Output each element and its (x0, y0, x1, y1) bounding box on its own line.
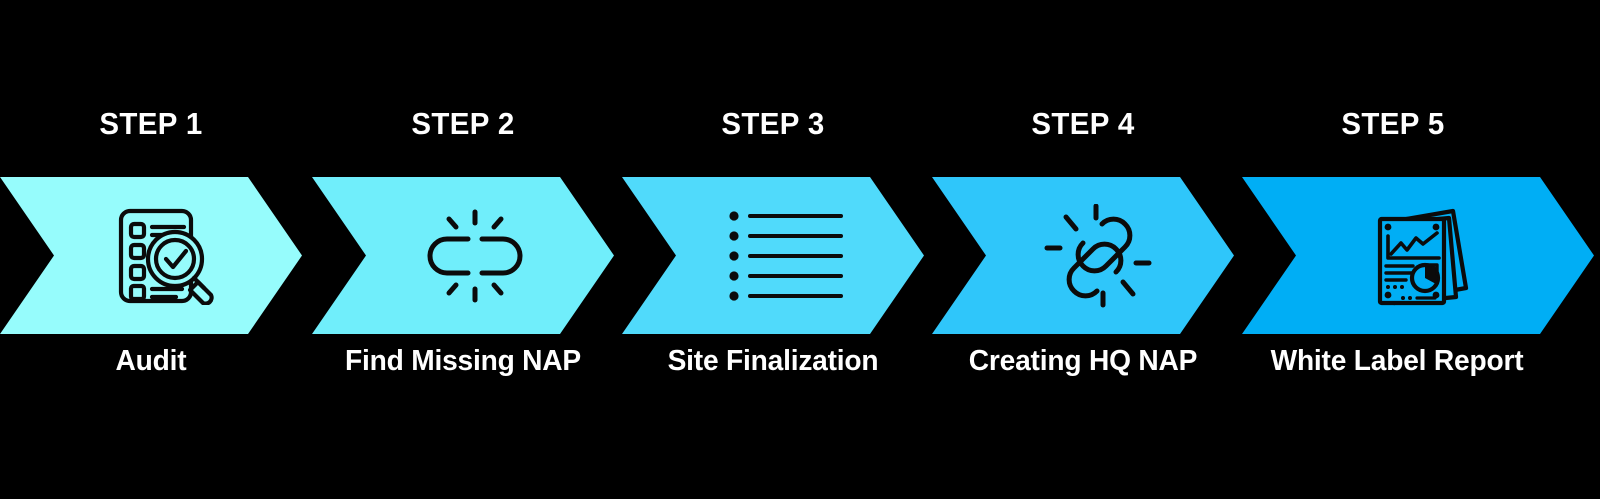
process-flow-graphic: STEP 1 (0, 0, 1600, 499)
chevron-shape-2 (312, 177, 614, 334)
step-4-title: STEP 4 (940, 106, 1227, 142)
step-5-title: STEP 5 (1250, 106, 1537, 142)
step-4-label: Creating HQ NAP (937, 343, 1230, 379)
process-step-1[interactable]: STEP 1 (0, 0, 302, 499)
chevron-shape-3 (622, 177, 924, 334)
step-4-chevron[interactable] (932, 177, 1234, 334)
chevron-shape-4 (932, 177, 1234, 334)
step-3-chevron[interactable] (622, 177, 924, 334)
step-5-label: White Label Report (1247, 343, 1548, 379)
process-step-4[interactable]: STEP 4 Creating HQ NAP (932, 0, 1234, 499)
step-1-label: Audit (5, 343, 298, 379)
chevron-shape-5 (1242, 177, 1594, 334)
step-2-label: Find Missing NAP (317, 343, 610, 379)
step-3-title: STEP 3 (630, 106, 917, 142)
process-step-3[interactable]: STEP 3 Site Finalization (622, 0, 924, 499)
step-5-chevron[interactable] (1242, 177, 1594, 334)
step-2-title: STEP 2 (320, 106, 607, 142)
step-3-label: Site Finalization (627, 343, 920, 379)
process-step-2[interactable]: STEP 2 Find Missing NAP (312, 0, 614, 499)
step-2-chevron[interactable] (312, 177, 614, 334)
step-1-chevron[interactable] (0, 177, 302, 334)
chevron-shape-1 (0, 177, 302, 334)
step-1-title: STEP 1 (8, 106, 295, 142)
process-step-5[interactable]: STEP 5 (1242, 0, 1600, 499)
